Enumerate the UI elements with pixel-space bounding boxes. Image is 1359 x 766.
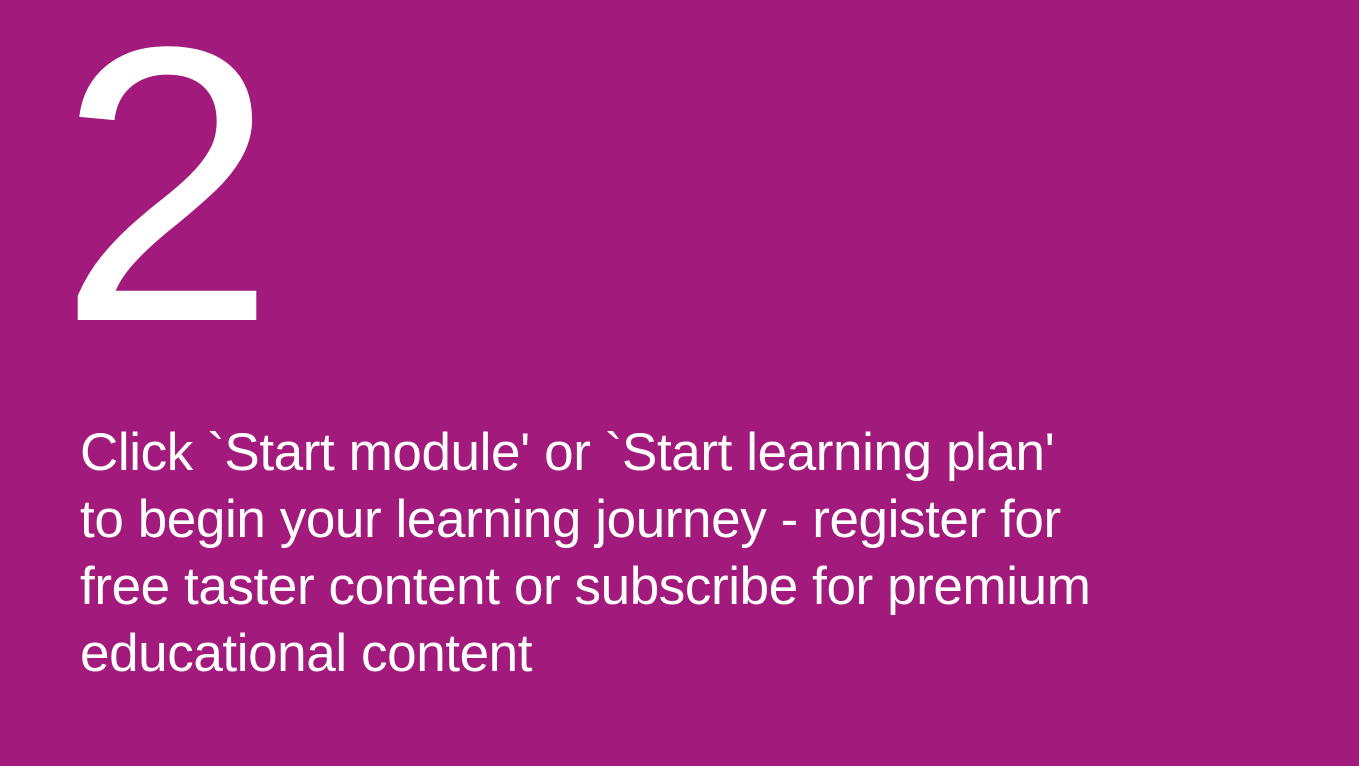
step-description-text: Click `Start module' or `Start learning … <box>80 419 1295 687</box>
step-number: 2 <box>58 77 318 367</box>
instruction-slide: 2 Click `Start module' or `Start learnin… <box>0 0 1359 766</box>
step-number-glyph: 2 <box>58 0 270 381</box>
